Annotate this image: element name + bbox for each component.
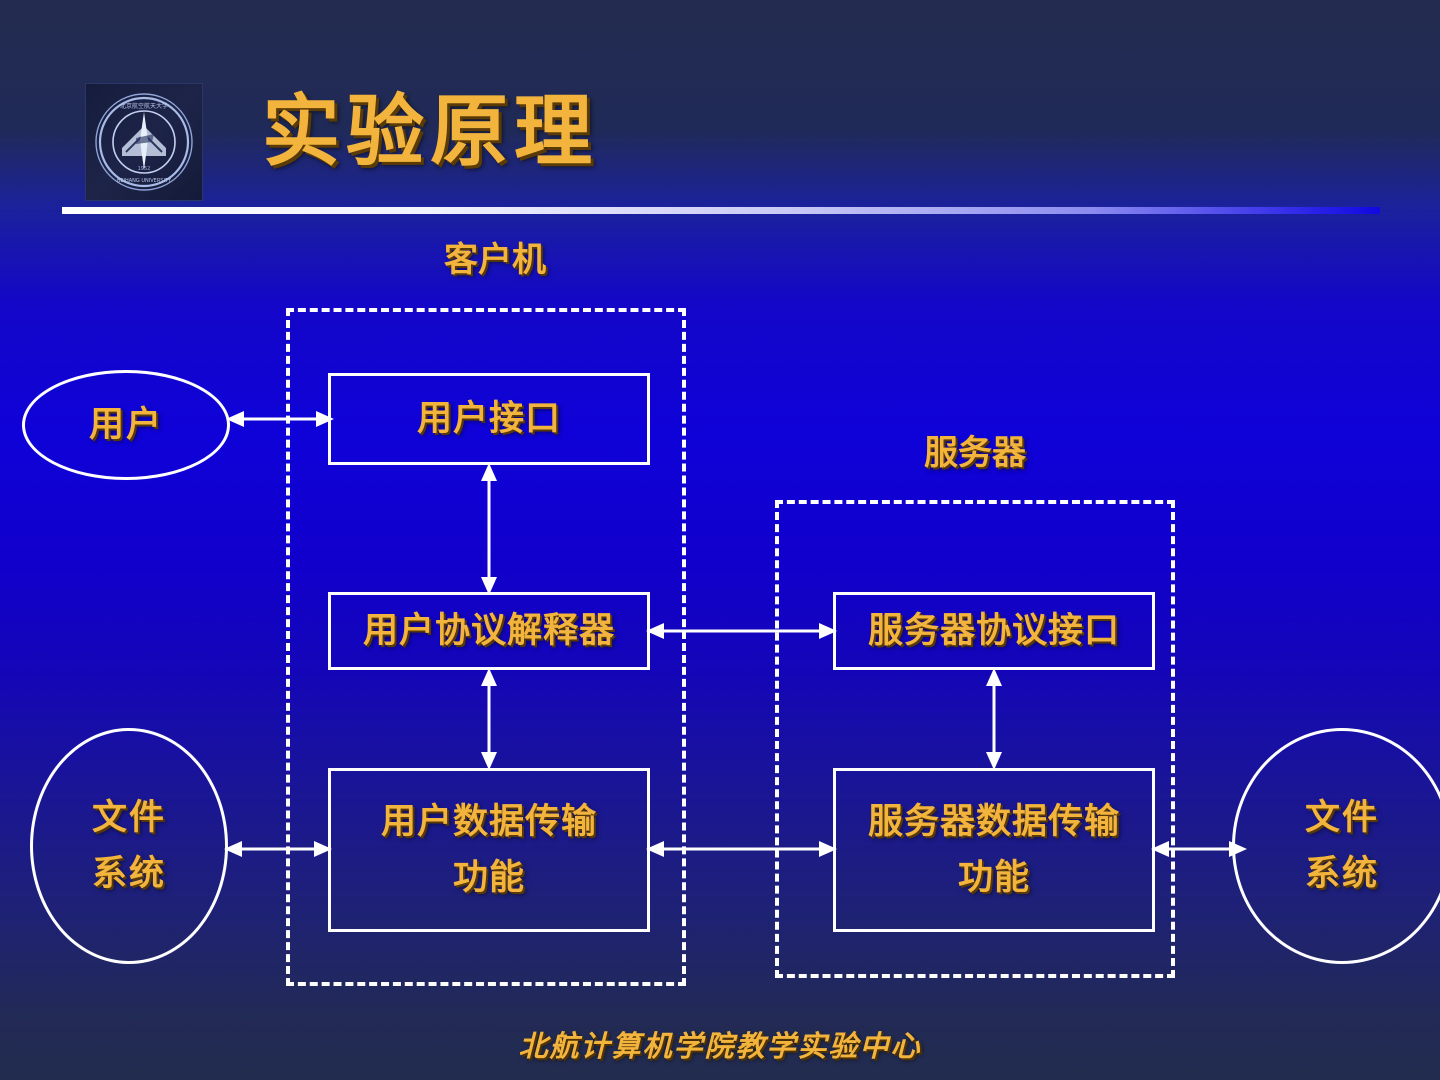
arrow-server-protocol-interface-to-server-data-transfer [979, 668, 1009, 770]
box-user-data-transfer-line-1: 用户数据传输 [381, 794, 597, 850]
arrow-protocol-interpreter-to-server-protocol-interface [646, 616, 837, 646]
box-user-interface[interactable]: 用户接口 [328, 373, 650, 465]
experiment-principle-diagram: 客户机 服务器 用户接口 用户协议解释器 用户数据传输 功能 服务器协议接口 服… [0, 0, 1440, 1080]
footer-credit: 北航计算机学院教学实验中心 [0, 1028, 1440, 1064]
zone-label-client: 客户机 [345, 240, 645, 280]
node-file-system-left-line-1: 文件 [92, 790, 166, 846]
arrow-user-to-user-interface [226, 404, 334, 434]
box-server-data-transfer-line-1: 服务器数据传输 [868, 794, 1120, 850]
node-file-system-right[interactable]: 文件 系统 [1232, 728, 1440, 964]
node-user[interactable]: 用户 [22, 370, 230, 480]
node-file-system-right-line-2: 系统 [1305, 846, 1379, 902]
node-file-system-left-line-2: 系统 [92, 846, 166, 902]
arrow-user-data-transfer-to-server-data-transfer [646, 834, 837, 864]
zone-label-server: 服务器 [825, 433, 1125, 473]
box-user-protocol-interpreter[interactable]: 用户协议解释器 [328, 592, 650, 670]
node-user-line-1: 用户 [89, 397, 163, 453]
box-server-data-transfer-line-2: 功能 [958, 850, 1030, 906]
arrow-file-system-left-to-user-data-transfer [224, 834, 332, 864]
box-user-data-transfer-line-2: 功能 [453, 850, 525, 906]
arrow-user-interface-to-protocol-interpreter [474, 463, 504, 595]
box-user-data-transfer[interactable]: 用户数据传输 功能 [328, 768, 650, 932]
arrow-server-data-transfer-to-file-system-right [1151, 834, 1247, 864]
box-user-interface-line-1: 用户接口 [417, 391, 561, 447]
node-file-system-left[interactable]: 文件 系统 [30, 728, 228, 964]
box-server-protocol-interface[interactable]: 服务器协议接口 [833, 592, 1155, 670]
node-file-system-right-line-1: 文件 [1305, 790, 1379, 846]
box-server-protocol-interface-line-1: 服务器协议接口 [868, 603, 1120, 659]
box-user-protocol-interpreter-line-1: 用户协议解释器 [363, 603, 615, 659]
box-server-data-transfer[interactable]: 服务器数据传输 功能 [833, 768, 1155, 932]
arrow-protocol-interpreter-to-user-data-transfer [474, 668, 504, 770]
